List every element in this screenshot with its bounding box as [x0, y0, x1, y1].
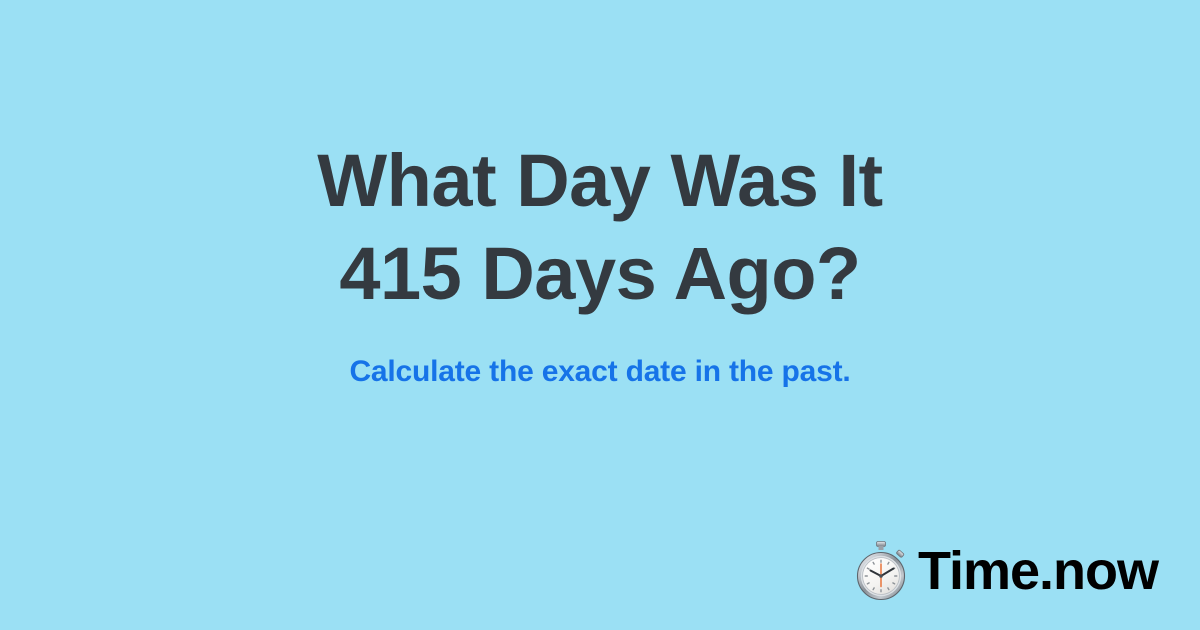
og-card: What Day Was It 415 Days Ago? Calculate … [0, 0, 1200, 630]
page-subtitle: Calculate the exact date in the past. [0, 353, 1200, 391]
brand-name: Time.now [918, 543, 1158, 599]
headline-line-1: What Day Was It [0, 134, 1200, 227]
brand-logo[interactable]: Time.now [852, 540, 1158, 602]
page-title: What Day Was It 415 Days Ago? [0, 134, 1200, 320]
headline-line-2: 415 Days Ago? [0, 227, 1200, 320]
stopwatch-icon [852, 540, 910, 602]
